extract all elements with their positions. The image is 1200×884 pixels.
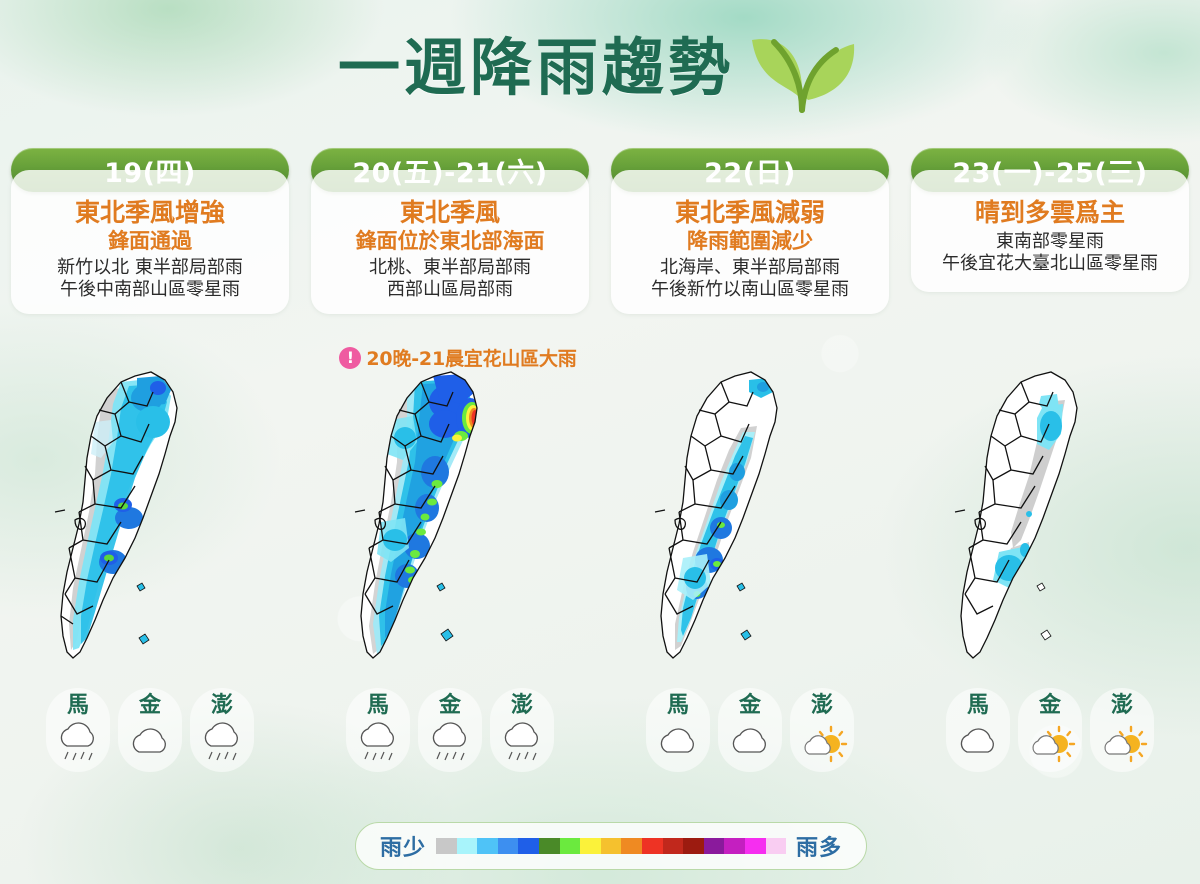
island-label: 馬 bbox=[67, 694, 89, 718]
forecast-card-1: 東北季風 鋒面位於東北部海面 北桃、東半部局部雨 西部山區局部雨 bbox=[311, 170, 589, 314]
forecast-column-3[interactable]: 23(一)-25(三) 晴到多雲爲主 東南部零星雨 午後宜花大臺北山區零星雨 bbox=[900, 148, 1200, 314]
island-kinmen-3[interactable]: 金 bbox=[1018, 688, 1082, 772]
island-matsu-3[interactable]: 馬 bbox=[946, 688, 1010, 772]
rain-cloud-icon bbox=[195, 720, 249, 764]
forecast-detail-2: 午後中南部山區零星雨 bbox=[17, 279, 283, 302]
day-pill-3[interactable]: 23(一)-25(三) bbox=[911, 148, 1189, 192]
legend-color-swatch bbox=[766, 838, 787, 854]
day-label: 23(一)-25(三) bbox=[952, 151, 1147, 190]
island-matsu-1[interactable]: 馬 bbox=[346, 688, 410, 772]
forecast-headline: 東北季風增強 bbox=[17, 198, 283, 228]
rain-cloud-icon bbox=[51, 720, 105, 764]
forecast-detail-1: 北桃、東半部局部雨 bbox=[317, 257, 583, 280]
island-kinmen-2[interactable]: 金 bbox=[718, 688, 782, 772]
island-label: 金 bbox=[439, 694, 461, 718]
legend-color-bar bbox=[436, 838, 786, 854]
cloud-icon bbox=[651, 720, 705, 764]
legend-color-swatch bbox=[683, 838, 704, 854]
forecast-columns: 19(四) 東北季風增強 鋒面通過 新竹以北 東半部局部雨 午後中南部山區零星雨… bbox=[0, 148, 1200, 314]
forecast-subline: 降雨範圍減少 bbox=[617, 229, 883, 254]
island-group-2: 馬 金 澎 bbox=[600, 688, 900, 772]
legend-color-swatch bbox=[498, 838, 519, 854]
forecast-detail-2: 午後新竹以南山區零星雨 bbox=[617, 279, 883, 302]
island-group-3: 馬 金 澎 bbox=[900, 688, 1200, 772]
forecast-subline: 鋒面位於東北部海面 bbox=[317, 229, 583, 254]
title-row: 一週降雨趨勢 bbox=[0, 14, 1200, 122]
island-label: 金 bbox=[139, 694, 161, 718]
legend-color-swatch bbox=[663, 838, 684, 854]
map-container-0[interactable] bbox=[0, 362, 300, 672]
page-title: 一週降雨趨勢 bbox=[338, 37, 734, 99]
weekly-rainfall-infographic: 一週降雨趨勢 19(四) 東北季風增強 鋒面通過 新竹以北 東半部局部雨 午後中… bbox=[0, 0, 1200, 884]
island-penghu-2[interactable]: 澎 bbox=[790, 688, 854, 772]
island-kinmen-0[interactable]: 金 bbox=[118, 688, 182, 772]
sun-cloud-icon bbox=[1095, 720, 1149, 764]
island-label: 澎 bbox=[211, 694, 233, 718]
taiwan-rainfall-map-23-25 bbox=[925, 362, 1175, 672]
island-penghu-0[interactable]: 澎 bbox=[190, 688, 254, 772]
legend-color-swatch bbox=[560, 838, 581, 854]
taiwan-rainfall-map-20-21 bbox=[325, 362, 575, 672]
island-label: 馬 bbox=[667, 694, 689, 718]
forecast-detail-2: 午後宜花大臺北山區零星雨 bbox=[917, 253, 1183, 276]
rain-cloud-icon bbox=[351, 720, 405, 764]
forecast-headline: 晴到多雲爲主 bbox=[917, 198, 1183, 228]
rain-cloud-icon bbox=[495, 720, 549, 764]
island-label: 澎 bbox=[511, 694, 533, 718]
legend-color-swatch bbox=[477, 838, 498, 854]
forecast-headline: 東北季風減弱 bbox=[617, 198, 883, 228]
forecast-detail-1: 北海岸、東半部局部雨 bbox=[617, 257, 883, 280]
sun-cloud-icon bbox=[1023, 720, 1077, 764]
rainfall-maps bbox=[0, 362, 1200, 672]
legend-color-swatch bbox=[580, 838, 601, 854]
rain-cloud-icon bbox=[423, 720, 477, 764]
forecast-card-2: 東北季風減弱 降雨範圍減少 北海岸、東半部局部雨 午後新竹以南山區零星雨 bbox=[611, 170, 889, 314]
day-label: 20(五)-21(六) bbox=[352, 151, 547, 190]
forecast-card-0: 東北季風增強 鋒面通過 新竹以北 東半部局部雨 午後中南部山區零星雨 bbox=[11, 170, 289, 314]
cloud-icon bbox=[951, 720, 1005, 764]
sun-cloud-icon bbox=[795, 720, 849, 764]
island-label: 馬 bbox=[367, 694, 389, 718]
island-kinmen-1[interactable]: 金 bbox=[418, 688, 482, 772]
forecast-detail-1: 東南部零星雨 bbox=[917, 231, 1183, 254]
day-label: 19(四) bbox=[104, 151, 196, 190]
island-penghu-1[interactable]: 澎 bbox=[490, 688, 554, 772]
island-matsu-2[interactable]: 馬 bbox=[646, 688, 710, 772]
island-label: 澎 bbox=[1111, 694, 1133, 718]
legend-color-swatch bbox=[621, 838, 642, 854]
legend-high-label: 雨多 bbox=[796, 830, 842, 862]
legend-color-swatch bbox=[745, 838, 766, 854]
island-label: 馬 bbox=[967, 694, 989, 718]
island-group-1: 馬 金 澎 bbox=[300, 688, 600, 772]
island-label: 金 bbox=[1039, 694, 1061, 718]
map-container-1[interactable] bbox=[300, 362, 600, 672]
legend-color-swatch bbox=[539, 838, 560, 854]
forecast-detail-1: 新竹以北 東半部局部雨 bbox=[17, 257, 283, 280]
legend-color-swatch bbox=[518, 838, 539, 854]
forecast-column-2[interactable]: 22(日) 東北季風減弱 降雨範圍減少 北海岸、東半部局部雨 午後新竹以南山區零… bbox=[600, 148, 900, 314]
forecast-headline: 東北季風 bbox=[317, 198, 583, 228]
island-matsu-0[interactable]: 馬 bbox=[46, 688, 110, 772]
island-label: 澎 bbox=[811, 694, 833, 718]
taiwan-rainfall-map-19 bbox=[25, 362, 275, 672]
legend-color-swatch bbox=[642, 838, 663, 854]
forecast-column-1[interactable]: 20(五)-21(六) 東北季風 鋒面位於東北部海面 北桃、東半部局部雨 西部山… bbox=[300, 148, 600, 314]
cloud-icon bbox=[123, 720, 177, 764]
sprout-icon bbox=[744, 10, 862, 114]
day-label: 22(日) bbox=[704, 151, 796, 190]
forecast-subline: 鋒面通過 bbox=[17, 229, 283, 254]
map-container-2[interactable] bbox=[600, 362, 900, 672]
taiwan-rainfall-map-22 bbox=[625, 362, 875, 672]
forecast-detail-2: 西部山區局部雨 bbox=[317, 279, 583, 302]
island-penghu-3[interactable]: 澎 bbox=[1090, 688, 1154, 772]
island-group-0: 馬 金 澎 bbox=[0, 688, 300, 772]
legend-color-swatch bbox=[436, 838, 457, 854]
island-forecast-row: 馬 金 澎 bbox=[0, 688, 1200, 772]
rainfall-legend: 雨少 雨多 bbox=[355, 822, 867, 870]
cloud-icon bbox=[723, 720, 777, 764]
legend-color-swatch bbox=[457, 838, 478, 854]
map-container-3[interactable] bbox=[900, 362, 1200, 672]
legend-low-label: 雨少 bbox=[380, 830, 426, 862]
day-pill-1[interactable]: 20(五)-21(六) bbox=[311, 148, 589, 192]
island-label: 金 bbox=[739, 694, 761, 718]
legend-color-swatch bbox=[704, 838, 725, 854]
legend-color-swatch bbox=[724, 838, 745, 854]
legend-color-swatch bbox=[601, 838, 622, 854]
forecast-column-0[interactable]: 19(四) 東北季風增強 鋒面通過 新竹以北 東半部局部雨 午後中南部山區零星雨 bbox=[0, 148, 300, 314]
